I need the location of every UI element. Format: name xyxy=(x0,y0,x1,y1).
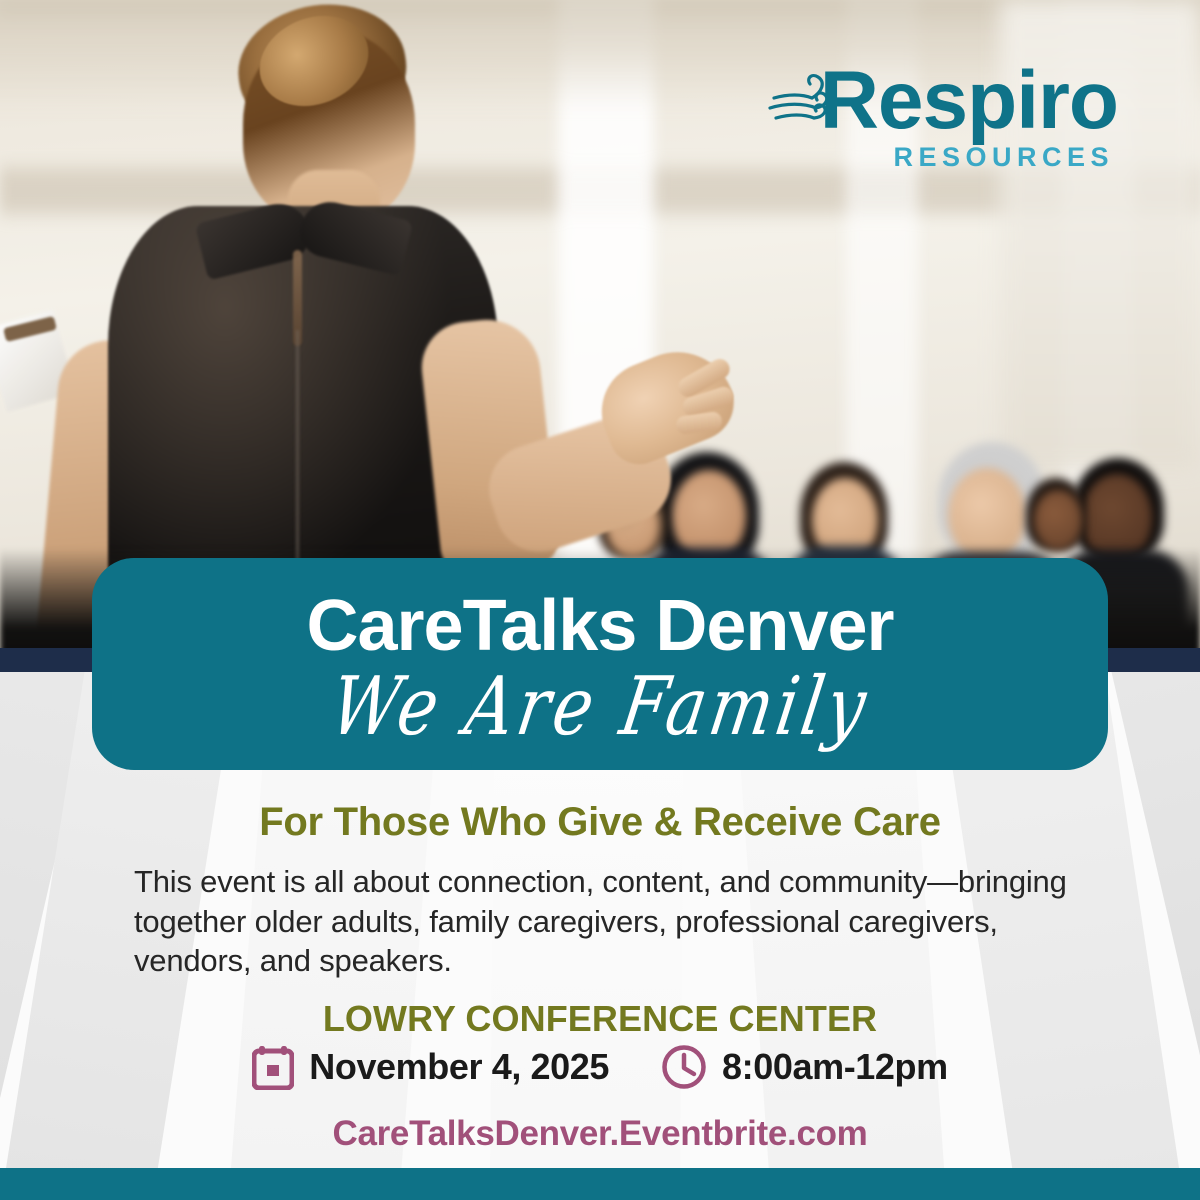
event-subtitle: For Those Who Give & Receive Care xyxy=(0,800,1200,845)
respiro-resources-logo[interactable]: Respiro RESOURCES xyxy=(820,62,1118,173)
event-tagline: We Are Family xyxy=(325,667,874,748)
logo-tagline: RESOURCES xyxy=(820,142,1114,173)
event-date: November 4, 2025 xyxy=(309,1046,609,1088)
title-banner: CareTalks Denver We Are Family xyxy=(92,558,1108,770)
audience-face xyxy=(1034,490,1082,550)
event-flyer: Respiro RESOURCES CareTalks Denver We Ar… xyxy=(0,0,1200,1200)
calendar-icon xyxy=(252,1044,294,1090)
clock-icon xyxy=(661,1044,707,1090)
event-title: CareTalks Denver xyxy=(307,590,894,662)
registration-url[interactable]: CareTalksDenver.Eventbrite.com xyxy=(0,1114,1200,1154)
wind-swirl-icon xyxy=(768,68,834,146)
event-time: 8:00am-12pm xyxy=(722,1046,948,1088)
event-venue: LOWRY CONFERENCE CENTER xyxy=(0,998,1200,1040)
footer-bar xyxy=(0,1168,1200,1200)
event-date-item: November 4, 2025 xyxy=(252,1044,609,1090)
event-time-item: 8:00am-12pm xyxy=(661,1044,948,1090)
event-description: This event is all about connection, cont… xyxy=(134,862,1068,981)
event-details-row: November 4, 2025 8:00am-12pm xyxy=(0,1044,1200,1090)
logo-wordmark: Respiro xyxy=(820,62,1118,140)
